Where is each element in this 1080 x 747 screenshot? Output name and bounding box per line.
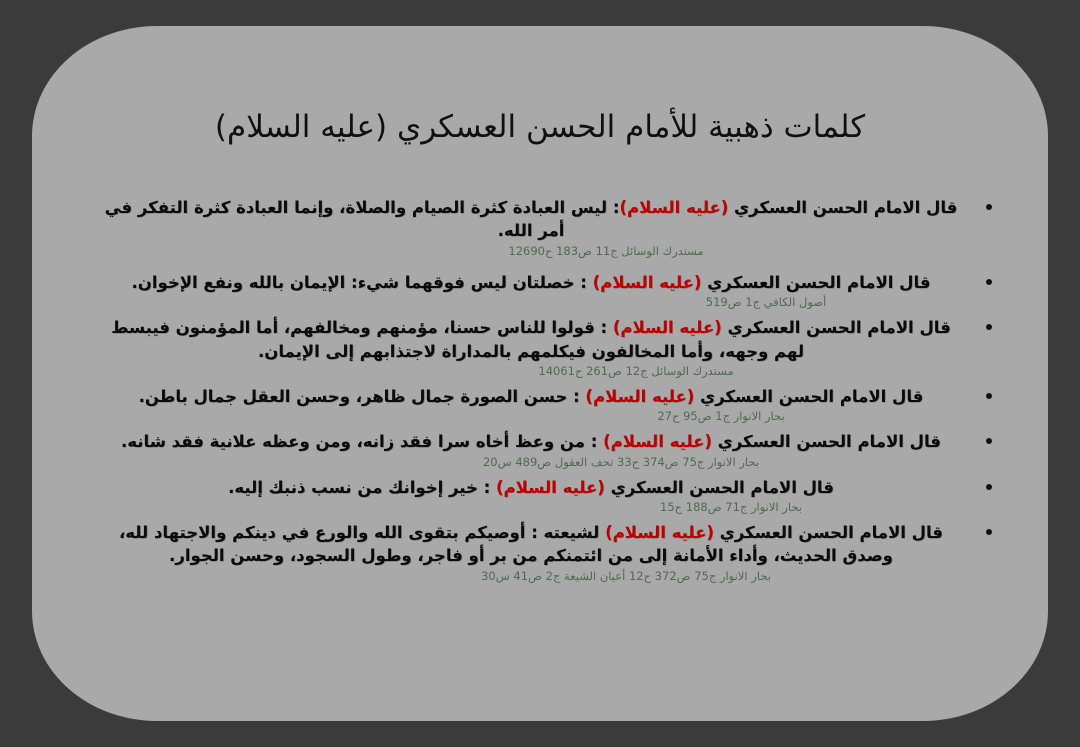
list-item: قال الامام الحسن العسكري (عليه السلام) ل… xyxy=(76,521,1004,584)
bullet-dot-icon xyxy=(986,279,992,285)
honorific-label: (عليه السلام) xyxy=(605,523,714,542)
hadith-body: : من وعظ أخاه سرا فقد زانه، ومن وعظه علا… xyxy=(121,432,603,451)
bullet-dot-icon xyxy=(986,529,992,535)
hadith-text: قال الامام الحسن العسكري (عليه السلام) :… xyxy=(98,430,964,453)
honorific-label: (عليه السلام) xyxy=(619,198,728,217)
hadith-lead: قال الامام الحسن العسكري xyxy=(694,387,923,406)
bullet-dot-icon xyxy=(986,204,992,210)
hadith-lead: قال الامام الحسن العسكري xyxy=(714,523,943,542)
honorific-label: (عليه السلام) xyxy=(613,318,722,337)
citation-source: بحار الانوار ج75 ص372 ح12 أعيان الشيعة ج… xyxy=(98,569,964,584)
hadith-lead: قال الامام الحسن العسكري xyxy=(605,478,834,497)
hadith-body: : خير إخوانك من نسب ذنبك إليه. xyxy=(228,478,496,497)
hadith-text: قال الامام الحسن العسكري (عليه السلام) :… xyxy=(98,271,964,294)
hadith-text: قال الامام الحسن العسكري (عليه السلام) ل… xyxy=(98,521,964,568)
bullet-dot-icon xyxy=(986,484,992,490)
slide-card: كلمات ذهبية للأمام الحسن العسكري (عليه ا… xyxy=(32,26,1048,721)
list-item: قال الامام الحسن العسكري (عليه السلام) :… xyxy=(76,385,1004,424)
honorific-label: (عليه السلام) xyxy=(496,478,605,497)
slide-stage: كلمات ذهبية للأمام الحسن العسكري (عليه ا… xyxy=(0,0,1080,747)
list-item: قال الامام الحسن العسكري (عليه السلام) :… xyxy=(76,476,1004,515)
citation-source: بحار الانوار ج75 ص374 ح33 تحف العقول ص48… xyxy=(98,455,964,470)
honorific-label: (عليه السلام) xyxy=(593,273,702,292)
hadith-list: قال الامام الحسن العسكري (عليه السلام): … xyxy=(76,196,1004,584)
hadith-body: : ليس العبادة كثرة الصيام والصلاة، وإنما… xyxy=(105,198,620,240)
hadith-text: قال الامام الحسن العسكري (عليه السلام) :… xyxy=(98,385,964,408)
bullet-dot-icon xyxy=(986,324,992,330)
citation-source: بحار الانوار ج71 ص188 ح15 xyxy=(98,500,964,515)
honorific-label: (عليه السلام) xyxy=(585,387,694,406)
page-title: كلمات ذهبية للأمام الحسن العسكري (عليه ا… xyxy=(32,108,1048,147)
hadith-text: قال الامام الحسن العسكري (عليه السلام) :… xyxy=(98,316,964,363)
citation-source: مستدرك الوسائل ج11 ص183 ح12690 xyxy=(98,244,964,259)
hadith-text: قال الامام الحسن العسكري (عليه السلام) :… xyxy=(98,476,964,499)
hadith-body: : حسن الصورة جمال ظاهر، وحسن العقل جمال … xyxy=(139,387,586,406)
citation-source: مستدرك الوسائل ج12 ص261 ح14061 xyxy=(98,364,964,379)
list-item: قال الامام الحسن العسكري (عليه السلام) :… xyxy=(76,430,1004,469)
citation-source: أصول الكافي ج1 ص519 xyxy=(98,295,964,310)
hadith-lead: قال الامام الحسن العسكري xyxy=(701,273,930,292)
list-item: قال الامام الحسن العسكري (عليه السلام) :… xyxy=(76,271,1004,310)
honorific-label: (عليه السلام) xyxy=(603,432,712,451)
hadith-text: قال الامام الحسن العسكري (عليه السلام): … xyxy=(98,196,964,243)
citation-source: بحار الانوار ج1 ص95 ح27 xyxy=(98,409,964,424)
hadith-lead: قال الامام الحسن العسكري xyxy=(712,432,941,451)
list-item: قال الامام الحسن العسكري (عليه السلام) :… xyxy=(76,316,1004,379)
hadith-lead: قال الامام الحسن العسكري xyxy=(728,198,957,217)
bullet-dot-icon xyxy=(986,393,992,399)
list-item: قال الامام الحسن العسكري (عليه السلام): … xyxy=(76,196,1004,259)
hadith-body: : خصلتان ليس فوقهما شيء: الإيمان بالله و… xyxy=(131,273,592,292)
hadith-lead: قال الامام الحسن العسكري xyxy=(722,318,951,337)
bullet-dot-icon xyxy=(986,438,992,444)
